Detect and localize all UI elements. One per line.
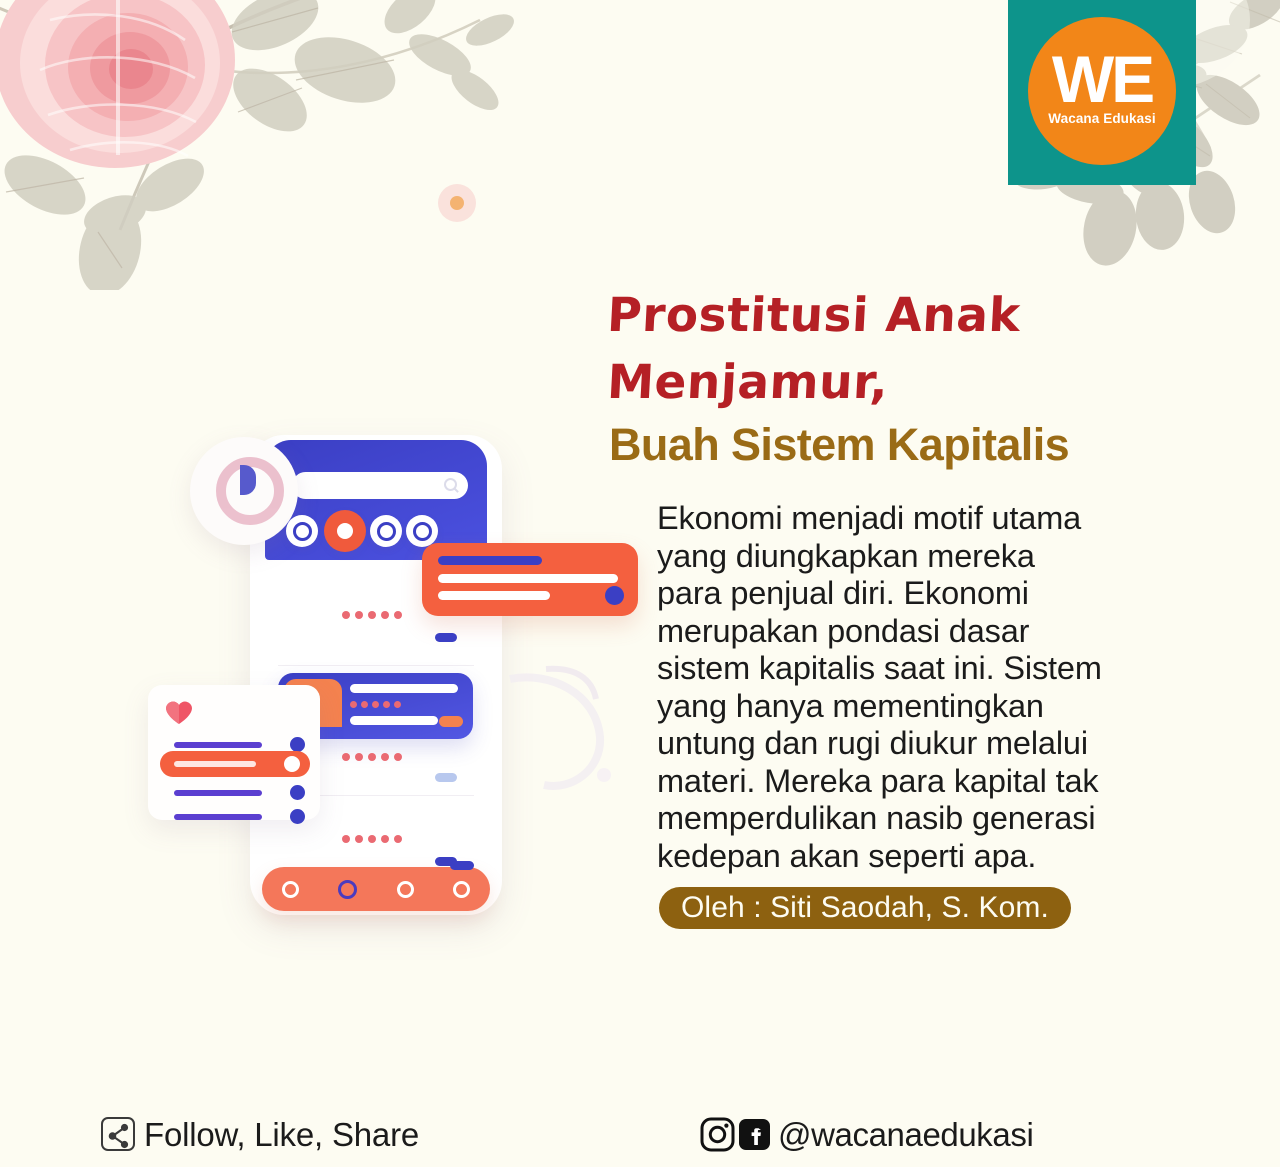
search-input[interactable] (292, 472, 468, 499)
bottom-navigation-bar[interactable] (262, 867, 490, 911)
settings-list-card (148, 685, 320, 820)
excerpt-line: sistem kapitalis saat ini. Sistem (657, 650, 1177, 688)
tab-marker (435, 633, 457, 642)
avatar[interactable] (370, 515, 402, 547)
list-item[interactable] (174, 737, 305, 752)
bubble-dot (605, 586, 624, 605)
tab-marker-muted (435, 773, 457, 782)
author-byline-text: Oleh : Siti Saodah, S. Kom. (681, 893, 1049, 923)
social-handle: @wacanaedukasi (778, 1118, 1033, 1151)
social-handle-group[interactable]: @wacanaedukasi (700, 1117, 1033, 1152)
avatar-selected[interactable] (324, 510, 366, 552)
nav-item-selected[interactable] (338, 880, 357, 899)
follow-like-share-label: Follow, Like, Share (144, 1118, 419, 1151)
nav-item[interactable] (282, 881, 299, 898)
excerpt-line: Ekonomi menjadi motif utama (657, 500, 1177, 538)
excerpt-line: merupakan pondasi dasar (657, 613, 1177, 651)
excerpt-line: untung dan rugi diukur melalui (657, 725, 1177, 763)
logo-name: Wacana Edukasi (1048, 111, 1155, 126)
excerpt-line: kedepan akan seperti apa. (657, 838, 1177, 876)
poster-title: Prostitusi Anak Menjamur, Buah Sistem Ka… (609, 283, 1169, 472)
list-item[interactable] (174, 785, 305, 800)
typing-dots (342, 611, 402, 619)
watercolor-rose-floral-icon (0, 0, 590, 290)
title-script-line-1: Prostitusi Anak (606, 283, 1169, 350)
avatar[interactable] (286, 515, 318, 547)
logo-wacana-edukasi[interactable]: WE Wacana Edukasi (1008, 0, 1196, 185)
facebook-icon[interactable] (737, 1117, 772, 1152)
search-icon (444, 478, 457, 491)
title-script-line-2: Menjamur, (606, 350, 1169, 417)
author-byline-pill: Oleh : Siti Saodah, S. Kom. (659, 887, 1071, 929)
decorative-pink-ring (216, 457, 284, 525)
excerpt-line: yang hanya mementingkan (657, 688, 1177, 726)
avatar[interactable] (406, 515, 438, 547)
tab-marker (450, 861, 474, 870)
share-icon (101, 1117, 135, 1151)
mobile-chat-app-illustration (130, 415, 560, 935)
chat-bubble-orange (422, 543, 638, 616)
instagram-icon[interactable] (700, 1117, 735, 1152)
logo-circle: WE Wacana Edukasi (1028, 17, 1176, 165)
nav-item[interactable] (397, 881, 414, 898)
follow-like-share[interactable]: Follow, Like, Share (101, 1117, 419, 1151)
logo-monogram: WE (1052, 52, 1152, 106)
excerpt-line: memperdulikan nasib generasi (657, 800, 1177, 838)
poster-canvas: WE Wacana Edukasi Prostitusi Anak Menjam… (0, 0, 1280, 1167)
decorative-swoosh (500, 665, 620, 795)
divider (278, 665, 474, 666)
slider-control[interactable] (160, 751, 310, 777)
article-excerpt: Ekonomi menjadi motif utama yang diungka… (657, 500, 1177, 875)
title-bold-line: Buah Sistem Kapitalis (609, 418, 1169, 471)
excerpt-line: materi. Mereka para kapital tak (657, 763, 1177, 801)
nav-item[interactable] (453, 881, 470, 898)
typing-dots (342, 835, 402, 843)
slider-handle[interactable] (284, 756, 300, 772)
excerpt-line: yang diungkapkan mereka (657, 538, 1177, 576)
typing-dots (342, 753, 402, 761)
list-item[interactable] (174, 809, 305, 824)
heart-icon (166, 701, 192, 725)
excerpt-line: para penjual diri. Ekonomi (657, 575, 1177, 613)
